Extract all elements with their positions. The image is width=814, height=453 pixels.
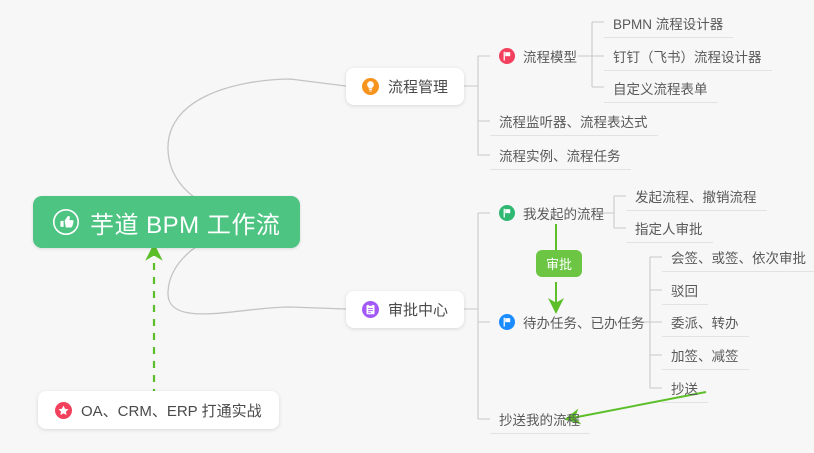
node-process-instance-task[interactable]: 流程实例、流程任务: [490, 140, 631, 170]
thumbs-up-icon: [53, 209, 79, 235]
branch-label-approval-center: 审批中心: [388, 299, 448, 320]
node-label-dingtalk-feishu-designer: 钉钉（飞书）流程设计器: [613, 46, 762, 66]
mindmap-canvas: 芋道 BPM 工作流 流程管理 流程模型 BPMN 流程设计器 钉钉（飞书: [0, 0, 814, 453]
node-designated-approver[interactable]: 指定人审批: [626, 213, 713, 243]
flag-green-icon: [499, 205, 515, 221]
lightbulb-icon: [362, 78, 379, 95]
root-node[interactable]: 芋道 BPM 工作流: [33, 196, 300, 248]
flag-red-icon: [499, 48, 515, 64]
node-process-listener-expression[interactable]: 流程监听器、流程表达式: [490, 106, 658, 136]
node-my-initiated-process[interactable]: 我发起的流程: [490, 198, 614, 228]
node-add-remove-sign[interactable]: 加签、减签: [662, 340, 749, 370]
node-cc-to-me-process[interactable]: 抄送我的流程: [490, 404, 590, 434]
node-label-countersign-or-sequential: 会签、或签、依次审批: [671, 247, 806, 267]
clipboard-icon: [362, 301, 379, 318]
node-delegate-transfer[interactable]: 委派、转办: [662, 307, 749, 337]
node-label-start-cancel-process: 发起流程、撤销流程: [635, 186, 757, 206]
node-custom-process-form[interactable]: 自定义流程表单: [604, 73, 718, 103]
branch-label-process-management: 流程管理: [388, 76, 448, 97]
node-label-my-initiated-process: 我发起的流程: [523, 203, 604, 223]
node-start-cancel-process[interactable]: 发起流程、撤销流程: [626, 181, 767, 211]
edge-pm-spine: [462, 56, 490, 155]
branch-node-approval-center[interactable]: 审批中心: [346, 291, 464, 328]
node-countersign-or-sequential[interactable]: 会签、或签、依次审批: [662, 242, 814, 272]
node-label-reject: 驳回: [671, 280, 698, 300]
approval-annotation-pill: 审批: [536, 250, 582, 277]
star-icon: [55, 402, 72, 419]
node-bpmn-designer[interactable]: BPMN 流程设计器: [604, 8, 733, 38]
node-label-custom-process-form: 自定义流程表单: [613, 78, 708, 98]
flag-blue-icon: [499, 314, 515, 330]
node-label-designated-approver: 指定人审批: [635, 218, 703, 238]
node-label-cc: 抄送: [671, 378, 698, 398]
node-label-process-instance-task: 流程实例、流程任务: [499, 145, 621, 165]
node-label-process-model: 流程模型: [523, 46, 577, 66]
node-cc[interactable]: 抄送: [662, 373, 708, 403]
node-todo-done-tasks[interactable]: 待办任务、已办任务: [490, 307, 655, 337]
node-reject[interactable]: 驳回: [662, 275, 708, 305]
callout-node[interactable]: OA、CRM、ERP 打通实战: [38, 391, 279, 429]
node-label-bpmn-designer: BPMN 流程设计器: [613, 13, 723, 33]
callout-label: OA、CRM、ERP 打通实战: [81, 400, 262, 421]
node-label-delegate-transfer: 委派、转办: [671, 312, 739, 332]
node-label-todo-done-tasks: 待办任务、已办任务: [523, 312, 645, 332]
approval-annotation-label: 审批: [546, 254, 572, 273]
edge-ac-spine: [462, 213, 490, 419]
branch-node-process-management[interactable]: 流程管理: [346, 68, 464, 105]
node-label-cc-to-me-process: 抄送我的流程: [499, 409, 580, 429]
node-label-process-listener-expression: 流程监听器、流程表达式: [499, 111, 648, 131]
node-dingtalk-feishu-designer[interactable]: 钉钉（飞书）流程设计器: [604, 41, 772, 71]
node-process-model[interactable]: 流程模型: [490, 41, 587, 71]
node-label-add-remove-sign: 加签、减签: [671, 345, 739, 365]
root-label: 芋道 BPM 工作流: [90, 205, 280, 240]
